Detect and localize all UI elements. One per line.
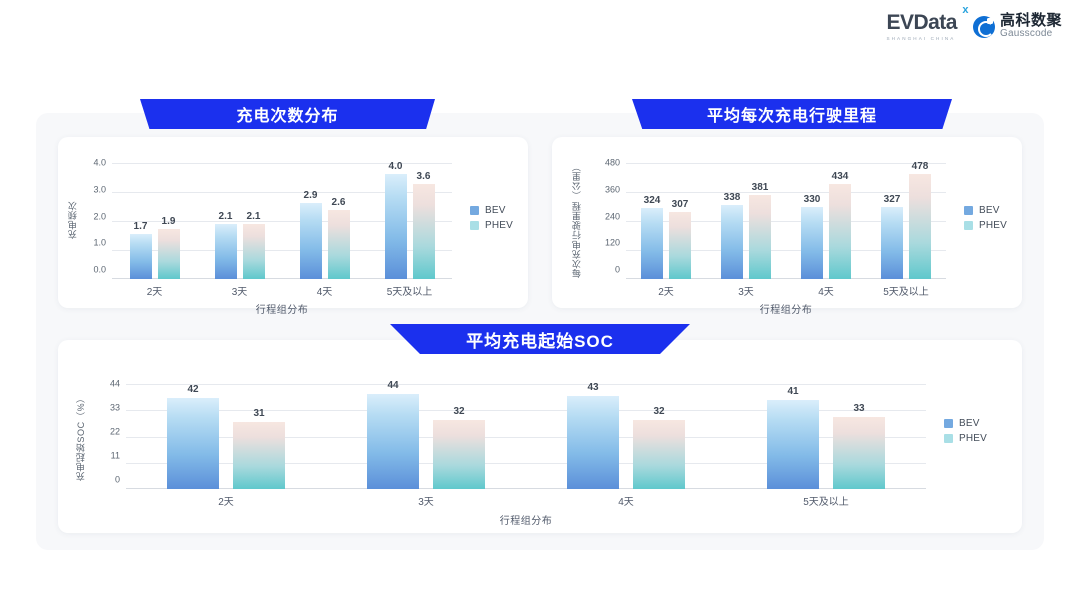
y-tick: 22 bbox=[110, 428, 120, 437]
legend-swatch-bev-icon bbox=[470, 206, 479, 215]
x-tick: 4天 bbox=[786, 283, 866, 298]
legend-swatch-bev-icon bbox=[964, 206, 973, 215]
bar-group: 327478 bbox=[866, 163, 946, 279]
bar-value-label: 33 bbox=[853, 403, 864, 414]
bar-value-label: 44 bbox=[387, 380, 398, 391]
chart-charging-frequency: 充电频次 4.0 3.0 2.0 1.0 0.0 1.71.92.12.12.9… bbox=[58, 137, 528, 308]
bar-value-label: 307 bbox=[672, 199, 689, 210]
legend-swatch-phev-icon bbox=[964, 221, 973, 230]
bar-value-label: 434 bbox=[832, 171, 849, 182]
bar-groups: 1.71.92.12.12.92.64.03.6 bbox=[112, 163, 452, 279]
bar-bev[interactable]: 42 bbox=[167, 398, 219, 489]
x-axis-ticks: 2天3天4天5天及以上 bbox=[626, 283, 946, 298]
chart-title-avg-range: 平均每次充电行驶里程 bbox=[632, 99, 952, 129]
y-tick: 4.0 bbox=[93, 159, 106, 168]
bar-phev[interactable]: 2.6 bbox=[328, 210, 350, 279]
y-tick: 360 bbox=[605, 185, 620, 194]
bar-groups: 324307338381330434327478 bbox=[626, 163, 946, 279]
x-tick: 3天 bbox=[706, 283, 786, 298]
bar-pair: 4.03.6 bbox=[385, 163, 435, 279]
bar-phev[interactable]: 478 bbox=[909, 174, 931, 279]
x-tick: 4天 bbox=[282, 283, 367, 298]
chart-card-charging-frequency: 充电频次 4.0 3.0 2.0 1.0 0.0 1.71.92.12.12.9… bbox=[58, 137, 528, 308]
bar-pair: 338381 bbox=[721, 163, 771, 279]
bar-phev[interactable]: 307 bbox=[669, 212, 691, 279]
y-tick: 120 bbox=[605, 239, 620, 248]
legend-item-bev[interactable]: BEV bbox=[964, 205, 1007, 216]
bar-pair: 4332 bbox=[567, 384, 685, 489]
bar-group: 2.12.1 bbox=[197, 163, 282, 279]
bar-value-label: 3.6 bbox=[417, 171, 431, 182]
legend-item-phev[interactable]: PHEV bbox=[944, 433, 987, 444]
bar-value-label: 1.7 bbox=[134, 221, 148, 232]
gausscode-mark-icon bbox=[973, 16, 995, 38]
evdata-logo-text: EVDatax bbox=[886, 12, 957, 33]
x-tick: 3天 bbox=[326, 493, 526, 508]
bar-value-label: 2.1 bbox=[247, 211, 261, 222]
bar-bev[interactable]: 330 bbox=[801, 207, 823, 280]
bar-phev[interactable]: 2.1 bbox=[243, 224, 265, 279]
bar-group: 4231 bbox=[126, 384, 326, 489]
evdata-logo-superscript-icon: x bbox=[962, 5, 968, 16]
legend-label-phev: PHEV bbox=[979, 220, 1007, 231]
bar-pair: 327478 bbox=[881, 163, 931, 279]
x-axis-ticks: 2天3天4天5天及以上 bbox=[126, 493, 926, 508]
evdata-logo-wordmark: EVData bbox=[886, 11, 957, 34]
bar-bev[interactable]: 44 bbox=[367, 394, 419, 489]
x-tick: 5天及以上 bbox=[367, 283, 452, 298]
bar-pair: 2.92.6 bbox=[300, 163, 350, 279]
y-tick: 0 bbox=[615, 266, 620, 275]
x-tick: 5天及以上 bbox=[866, 283, 946, 298]
bar-bev[interactable]: 327 bbox=[881, 207, 903, 279]
gausscode-logo: 高科数聚 Gausscode bbox=[973, 13, 1062, 39]
bar-pair: 2.12.1 bbox=[215, 163, 265, 279]
bar-value-label: 338 bbox=[724, 192, 741, 203]
chart-avg-start-soc: 充电起始SOC （%） 44 33 22 11 0 42314432433241… bbox=[58, 340, 1022, 533]
x-tick: 5天及以上 bbox=[726, 493, 926, 508]
bar-value-label: 324 bbox=[644, 195, 661, 206]
bar-phev[interactable]: 381 bbox=[749, 195, 771, 279]
gausscode-logo-cn: 高科数聚 bbox=[1000, 13, 1062, 29]
bar-group: 330434 bbox=[786, 163, 866, 279]
bar-value-label: 2.9 bbox=[304, 190, 318, 201]
bar-group: 2.92.6 bbox=[282, 163, 367, 279]
y-axis-ticks: 44 33 22 11 0 bbox=[94, 384, 120, 489]
bar-bev[interactable]: 338 bbox=[721, 205, 743, 279]
bar-value-label: 330 bbox=[804, 194, 821, 205]
evdata-logo: EVDatax SHANGHAI CHINA bbox=[886, 12, 957, 41]
bar-value-label: 32 bbox=[453, 406, 464, 417]
bar-group: 4.03.6 bbox=[367, 163, 452, 279]
plot-area: 324307338381330434327478 bbox=[626, 163, 946, 279]
gausscode-logo-en: Gausscode bbox=[1000, 29, 1062, 40]
x-axis-label: 行程组分布 bbox=[126, 512, 926, 527]
chart-card-avg-start-soc: 充电起始SOC （%） 44 33 22 11 0 42314432433241… bbox=[58, 340, 1022, 533]
legend: BEV PHEV bbox=[944, 418, 987, 444]
y-axis-label: 每次充电行驶里程 （公里） bbox=[564, 157, 590, 283]
bar-bev[interactable]: 2.9 bbox=[300, 203, 322, 279]
legend-label-bev: BEV bbox=[979, 205, 1000, 216]
plot-area: 4231443243324133 bbox=[126, 384, 926, 489]
x-tick: 2天 bbox=[112, 283, 197, 298]
x-axis-label: 行程组分布 bbox=[112, 301, 452, 316]
bar-value-label: 381 bbox=[752, 182, 769, 193]
y-axis-ticks: 4.0 3.0 2.0 1.0 0.0 bbox=[80, 163, 106, 279]
bar-value-label: 43 bbox=[587, 382, 598, 393]
bar-pair: 4133 bbox=[767, 384, 885, 489]
chart-card-avg-range: 每次充电行驶里程 （公里） 480 360 240 120 0 32430733… bbox=[552, 137, 1022, 308]
legend-swatch-bev-icon bbox=[944, 419, 953, 428]
legend: BEV PHEV bbox=[470, 205, 513, 231]
y-tick: 240 bbox=[605, 212, 620, 221]
y-tick: 0 bbox=[115, 476, 120, 485]
bar-value-label: 4.0 bbox=[389, 161, 403, 172]
bar-phev[interactable]: 31 bbox=[233, 422, 285, 489]
y-axis-label: 充电频次 bbox=[66, 165, 80, 275]
bar-bev[interactable]: 4.0 bbox=[385, 174, 407, 279]
bar-value-label: 32 bbox=[653, 406, 664, 417]
y-tick: 2.0 bbox=[93, 212, 106, 221]
bar-bev[interactable]: 43 bbox=[567, 396, 619, 489]
x-axis-label: 行程组分布 bbox=[626, 301, 946, 316]
gausscode-logo-text: 高科数聚 Gausscode bbox=[1000, 13, 1062, 39]
bar-group: 4332 bbox=[526, 384, 726, 489]
bar-value-label: 1.9 bbox=[162, 216, 176, 227]
bar-pair: 1.71.9 bbox=[130, 163, 180, 279]
legend-item-bev[interactable]: BEV bbox=[470, 205, 513, 216]
y-axis-label-line1: 每次充电行驶里程 bbox=[572, 201, 582, 278]
y-axis-label-line2: （公里） bbox=[572, 162, 582, 200]
bar-bev[interactable]: 1.7 bbox=[130, 234, 152, 279]
bar-phev[interactable]: 434 bbox=[829, 184, 851, 279]
y-tick: 3.0 bbox=[93, 185, 106, 194]
y-axis-label: 充电起始SOC （%） bbox=[68, 378, 94, 496]
bar-group: 4133 bbox=[726, 384, 926, 489]
bar-value-label: 327 bbox=[884, 194, 901, 205]
y-tick: 33 bbox=[110, 404, 120, 413]
legend-swatch-phev-icon bbox=[944, 434, 953, 443]
bar-value-label: 41 bbox=[787, 386, 798, 397]
y-tick: 1.0 bbox=[93, 239, 106, 248]
y-axis-label-line1: 充电起始SOC bbox=[76, 422, 86, 482]
bar-value-label: 42 bbox=[187, 384, 198, 395]
y-tick: 480 bbox=[605, 159, 620, 168]
slide-page: EVDatax SHANGHAI CHINA 高科数聚 Gausscode 充电… bbox=[0, 0, 1080, 608]
x-tick: 4天 bbox=[526, 493, 726, 508]
bar-phev[interactable]: 1.9 bbox=[158, 229, 180, 279]
legend-swatch-phev-icon bbox=[470, 221, 479, 230]
y-axis-ticks: 480 360 240 120 0 bbox=[590, 163, 620, 279]
legend-label-phev: PHEV bbox=[959, 433, 987, 444]
legend-label-bev: BEV bbox=[959, 418, 980, 429]
legend-label-phev: PHEV bbox=[485, 220, 513, 231]
y-tick: 44 bbox=[110, 380, 120, 389]
bar-pair: 4231 bbox=[167, 384, 285, 489]
x-tick: 3天 bbox=[197, 283, 282, 298]
x-axis-ticks: 2天3天4天5天及以上 bbox=[112, 283, 452, 298]
bar-value-label: 478 bbox=[912, 161, 929, 172]
legend: BEV PHEV bbox=[964, 205, 1007, 231]
bar-pair: 324307 bbox=[641, 163, 691, 279]
chart-title-avg-start-soc: 平均充电起始SOC bbox=[390, 324, 690, 354]
y-axis-label-line2: （%） bbox=[76, 393, 86, 421]
bar-group: 4432 bbox=[326, 384, 526, 489]
bar-group: 324307 bbox=[626, 163, 706, 279]
bar-group: 1.71.9 bbox=[112, 163, 197, 279]
chart-title-charging-frequency: 充电次数分布 bbox=[140, 99, 435, 129]
bar-phev[interactable]: 33 bbox=[833, 417, 885, 489]
bar-bev[interactable]: 324 bbox=[641, 208, 663, 279]
bar-phev[interactable]: 32 bbox=[433, 420, 485, 489]
y-tick: 11 bbox=[111, 452, 120, 461]
header-logos: EVDatax SHANGHAI CHINA 高科数聚 Gausscode bbox=[886, 12, 1062, 41]
bar-value-label: 2.6 bbox=[332, 197, 346, 208]
bar-group: 338381 bbox=[706, 163, 786, 279]
x-tick: 2天 bbox=[626, 283, 706, 298]
legend-item-phev[interactable]: PHEV bbox=[964, 220, 1007, 231]
plot-area: 1.71.92.12.12.92.64.03.6 bbox=[112, 163, 452, 279]
bar-phev[interactable]: 3.6 bbox=[413, 184, 435, 279]
bar-bev[interactable]: 2.1 bbox=[215, 224, 237, 279]
bar-value-label: 2.1 bbox=[219, 211, 233, 222]
bar-value-label: 31 bbox=[253, 408, 264, 419]
legend-item-phev[interactable]: PHEV bbox=[470, 220, 513, 231]
evdata-logo-tagline: SHANGHAI CHINA bbox=[886, 36, 955, 41]
bar-groups: 4231443243324133 bbox=[126, 384, 926, 489]
chart-avg-range: 每次充电行驶里程 （公里） 480 360 240 120 0 32430733… bbox=[552, 137, 1022, 308]
bar-pair: 330434 bbox=[801, 163, 851, 279]
bar-phev[interactable]: 32 bbox=[633, 420, 685, 489]
bar-pair: 4432 bbox=[367, 384, 485, 489]
y-tick: 0.0 bbox=[93, 266, 106, 275]
legend-item-bev[interactable]: BEV bbox=[944, 418, 987, 429]
bar-bev[interactable]: 41 bbox=[767, 400, 819, 489]
legend-label-bev: BEV bbox=[485, 205, 506, 216]
x-tick: 2天 bbox=[126, 493, 326, 508]
